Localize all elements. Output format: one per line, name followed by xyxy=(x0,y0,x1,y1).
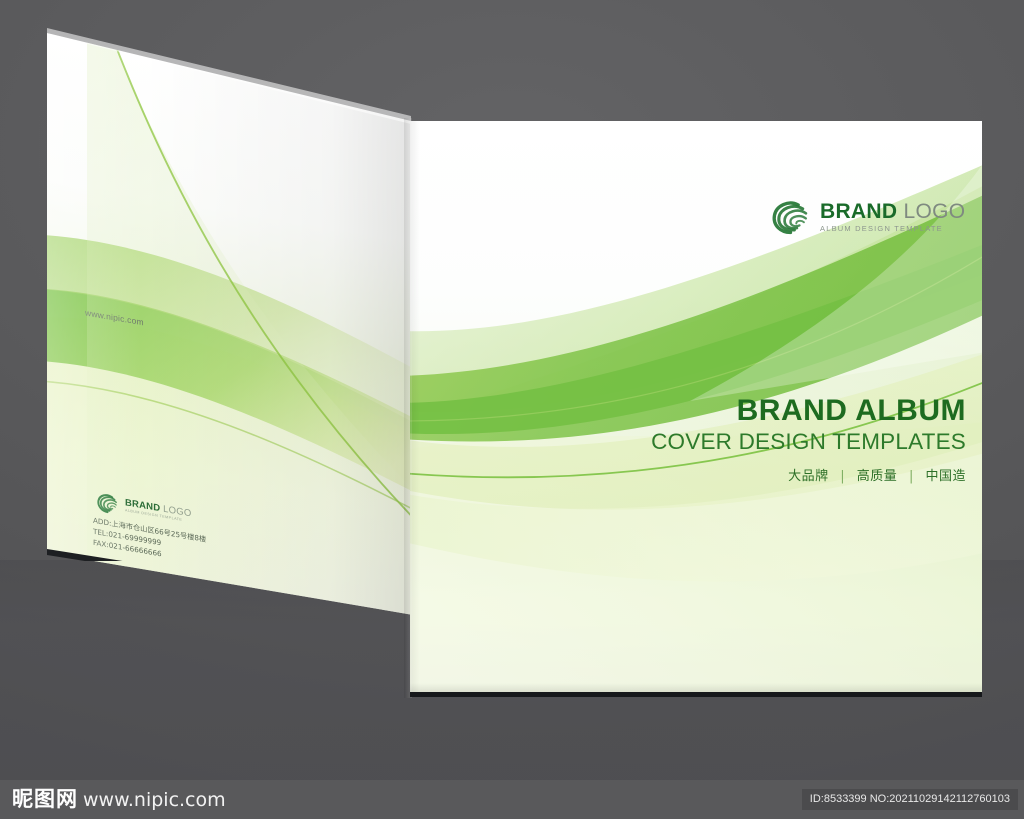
front-cover-logo-text: BRAND LOGO xyxy=(820,201,965,222)
brochure-mockup: www.nipic.com xyxy=(0,0,1024,819)
front-cover-panel: BRAND LOGO ALBUM DESIGN TEMPLATE BRAND A… xyxy=(410,121,982,695)
tag-item-1: 高质量 xyxy=(857,469,898,484)
watermark-site-name-cn: 昵图网 xyxy=(12,789,78,810)
back-cover-panel: www.nipic.com xyxy=(47,33,411,553)
front-cover-logo-tagline: ALBUM DESIGN TEMPLATE xyxy=(820,225,965,233)
tag-separator-0: | xyxy=(840,469,845,484)
tag-item-0: 大品牌 xyxy=(788,469,829,484)
tag-item-2: 中国造 xyxy=(925,469,966,484)
back-cover-artwork: www.nipic.com xyxy=(47,33,411,615)
watermark-site-url: www.nipic.com xyxy=(83,791,226,810)
globe-swirl-logo-icon xyxy=(770,196,811,237)
front-cover-title-block: BRAND ALBUM COVER DESIGN TEMPLATES 大品牌 |… xyxy=(410,395,966,484)
globe-swirl-logo-icon xyxy=(95,488,120,517)
screenshot-stage: www.nipic.com xyxy=(0,0,1024,819)
back-cover-surface: www.nipic.com xyxy=(47,33,411,695)
front-cover-title-sub: COVER DESIGN TEMPLATES xyxy=(410,429,966,454)
watermark-bar: 昵图网 www.nipic.com ID:8533399 NO:20211029… xyxy=(0,780,1024,819)
tag-separator-1: | xyxy=(909,469,914,484)
watermark-brand: 昵图网 www.nipic.com xyxy=(0,789,226,810)
book-bottom-edge-right xyxy=(410,692,982,697)
front-cover-logo-bold: BRAND xyxy=(820,200,897,223)
front-cover-title-main: BRAND ALBUM xyxy=(410,395,966,427)
front-cover-logo-light: LOGO xyxy=(903,200,965,223)
front-cover-logo-words: BRAND LOGO ALBUM DESIGN TEMPLATE xyxy=(820,201,965,233)
front-cover-logo: BRAND LOGO ALBUM DESIGN TEMPLATE xyxy=(770,196,965,237)
front-cover-tagline-row: 大品牌 | 高质量 | 中国造 xyxy=(410,465,966,484)
watermark-id-badge: ID:8533399 NO:20211029142112760103 xyxy=(802,789,1018,810)
book-spine-fold xyxy=(404,118,412,698)
